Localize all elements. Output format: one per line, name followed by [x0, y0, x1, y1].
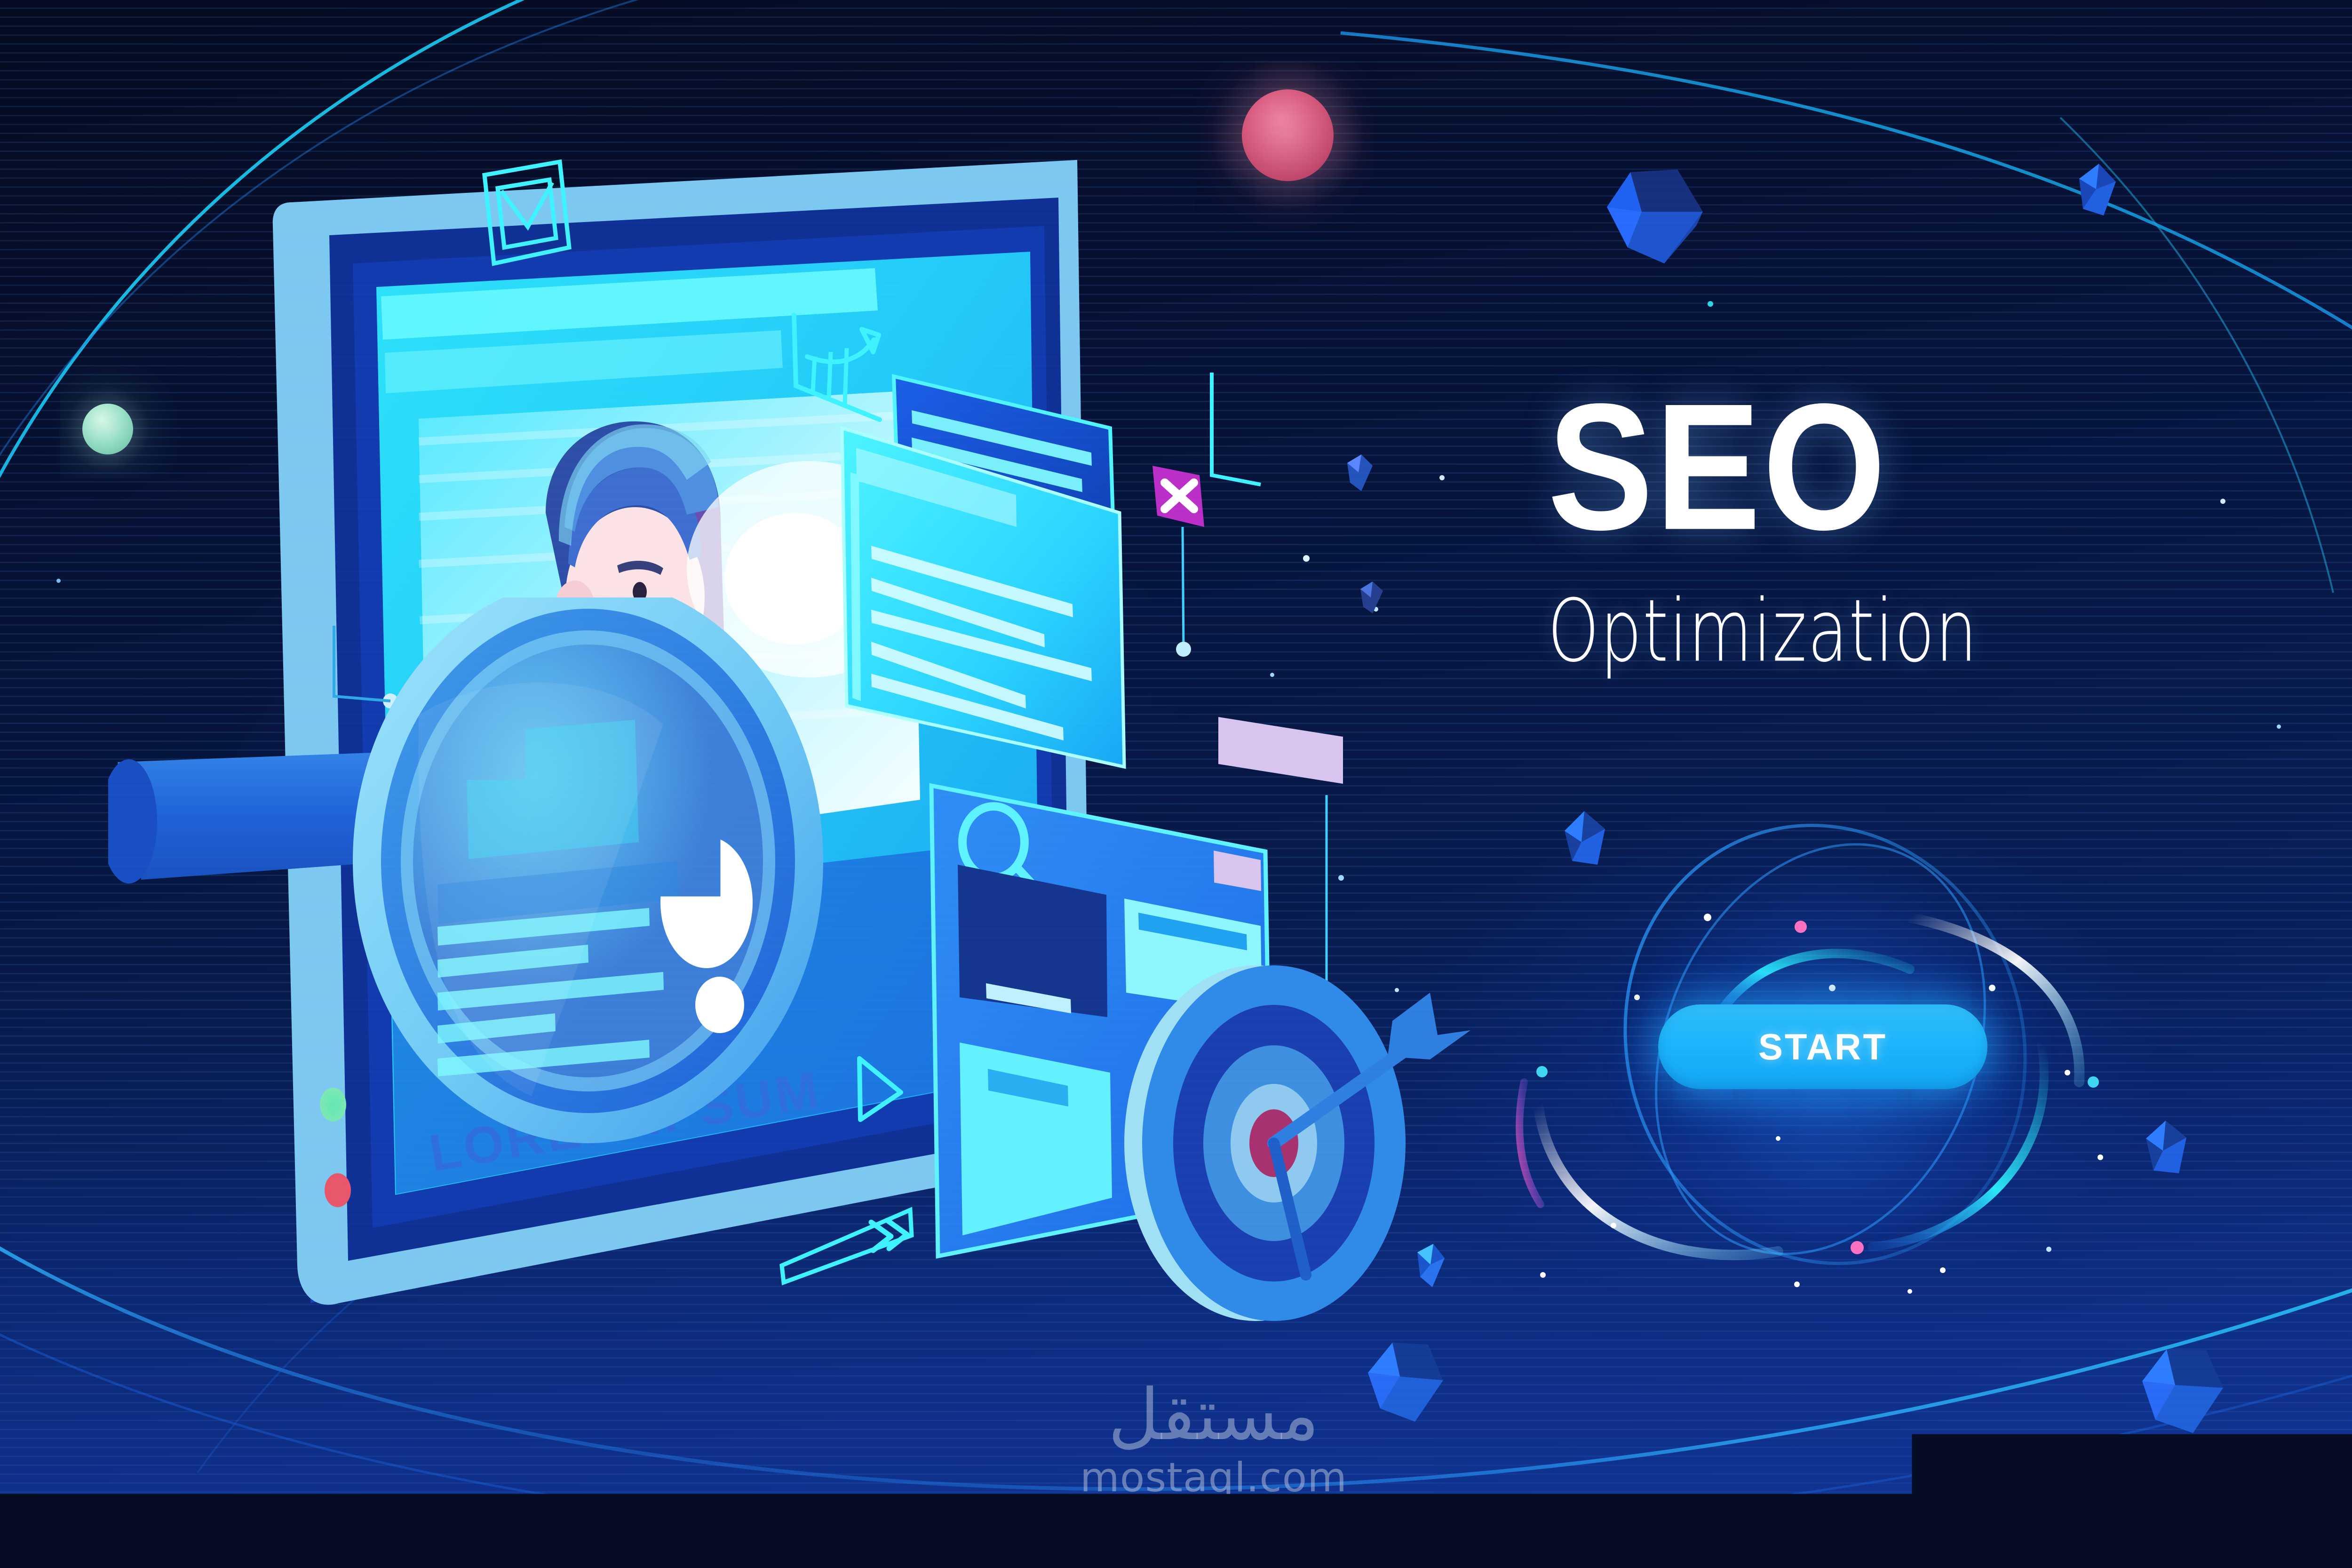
page-title: SEO [1548, 381, 2243, 552]
start-button-label: START [1758, 1026, 1887, 1068]
double-chevron-right-icon[interactable] [771, 1190, 922, 1294]
corner-bracket-icon [1204, 367, 1275, 489]
seo-landing-banner: LOREM IPSUM [0, 0, 2352, 1568]
magnifying-glass [108, 597, 917, 1195]
watermark: مستقل mostaql.com [1030, 1378, 1397, 1500]
play-triangle-icon[interactable] [849, 1049, 910, 1129]
close-x-badge-icon [1152, 466, 1204, 527]
planet-teal-left [82, 404, 133, 454]
crystal-bottom-right [2126, 1336, 2234, 1444]
mail-envelope-icon [475, 155, 579, 278]
growth-chart-icon [771, 301, 913, 442]
page-subtitle: Optimization [1548, 581, 2182, 681]
target-dartboard [1101, 936, 1472, 1350]
crystal-small-far-right [2070, 160, 2122, 221]
headline-block: SEO Optimization [1548, 381, 2230, 663]
crystal-top-right [1585, 155, 1722, 278]
start-button[interactable]: START [1658, 1004, 1987, 1089]
watermark-latin: mostaql.com [1030, 1456, 1397, 1500]
watermark-arabic: مستقل [1030, 1378, 1397, 1453]
cta-area: START [1496, 800, 2173, 1298]
